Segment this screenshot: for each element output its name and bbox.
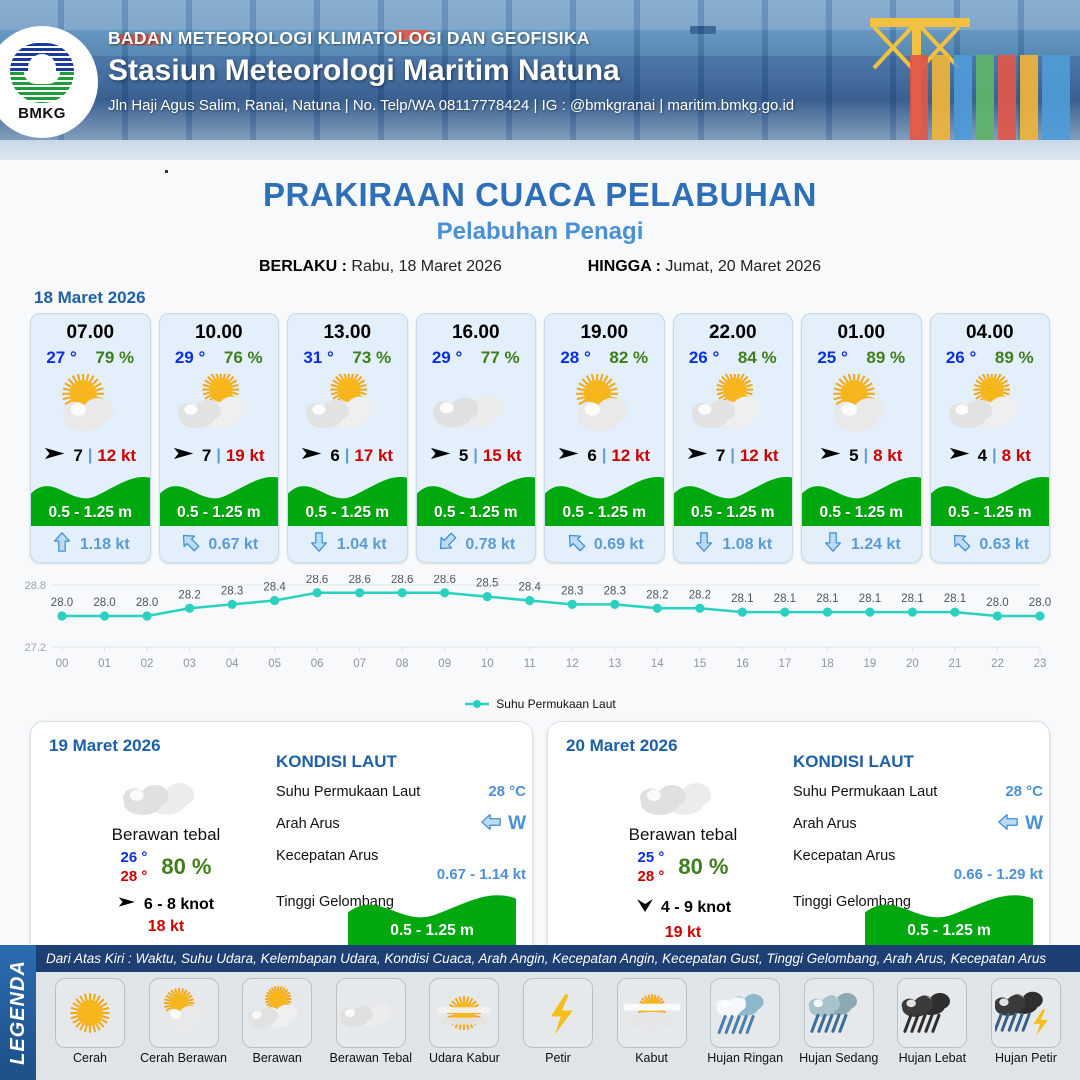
card-time: 07.00 <box>31 322 150 344</box>
wind-direction-arrow-icon <box>301 446 325 466</box>
legend-item: Petir <box>512 978 604 1065</box>
card-temp-humidity: 26 ° 89 % <box>931 348 1050 368</box>
wind-separator: | <box>730 447 734 465</box>
svg-text:14: 14 <box>651 658 664 670</box>
svg-text:21: 21 <box>949 658 962 670</box>
chart-legend-label: Suhu Permukaan Laut <box>496 697 615 711</box>
card-wave-graphic: 0.5 - 1.25 m <box>31 470 150 526</box>
card-wind-direction: 4 <box>978 446 987 466</box>
legend-section: LEGENDA Dari Atas Kiri : Waktu, Suhu Uda… <box>0 945 1080 1080</box>
card-wind-speed: 19 kt <box>226 446 265 466</box>
day-wave-graphic: 0.5 - 1.25 m <box>348 888 516 946</box>
card-wave-height: 0.5 - 1.25 m <box>674 504 793 522</box>
svg-text:00: 00 <box>56 658 69 670</box>
card-temp-humidity: 26 ° 84 % <box>674 348 793 368</box>
day-temp-max: 28 ° <box>637 868 664 885</box>
legend-item-label: Udara Kabur <box>418 1051 510 1065</box>
card-current-speed: 1.04 kt <box>337 536 387 554</box>
legend-item: Cerah <box>44 978 136 1065</box>
card-wind-row: 7 | 12 kt <box>31 446 150 466</box>
hourly-card: 19.00 28 ° 82 % 6 | 12 kt 0.5 - 1.25 m 0… <box>544 313 665 563</box>
hourly-card: 07.00 27 ° 79 % 7 | 12 kt 0.5 - 1.25 m 1… <box>30 313 151 563</box>
wind-direction-arrow-icon <box>430 446 454 466</box>
wind-separator: | <box>216 447 220 465</box>
day-wind-row: 6 - 8 knot <box>71 895 261 914</box>
day-temp-humidity: 26 ° 28 ° 80 % <box>71 849 261 885</box>
card-temperature: 28 ° <box>560 348 590 368</box>
svg-text:28.3: 28.3 <box>221 585 243 597</box>
card-wave-height: 0.5 - 1.25 m <box>31 504 150 522</box>
card-current-row: 1.08 kt <box>674 531 793 558</box>
svg-text:28.3: 28.3 <box>604 585 626 597</box>
card-current-row: 0.69 kt <box>545 531 664 558</box>
legend-item-label: Kabut <box>606 1051 698 1065</box>
wind-direction-arrow-icon <box>118 895 138 914</box>
hourly-card: 04.00 26 ° 89 % 4 | 8 kt 0.5 - 1.25 m <box>930 313 1051 563</box>
card-current-row: 0.63 kt <box>931 531 1050 558</box>
hingga-group: HINGGA : Jumat, 20 Maret 2026 <box>588 258 821 276</box>
card-humidity: 89 % <box>995 348 1034 368</box>
sst-value: 28 °C <box>1005 783 1043 800</box>
legend-item-label: Hujan Petir <box>980 1051 1072 1065</box>
card-weather-icon <box>545 372 664 436</box>
contact-info: Jln Haji Agus Salim, Ranai, Natuna | No.… <box>108 97 794 114</box>
wind-direction-arrow-icon <box>635 895 655 920</box>
svg-text:28.2: 28.2 <box>646 589 668 601</box>
card-temp-humidity: 29 ° 76 % <box>160 348 279 368</box>
daily-forecast-panel: 19 Maret 2026 Berawan tebal 26 ° 28 ° 80… <box>30 721 533 963</box>
day-temp-min: 25 ° <box>637 849 664 866</box>
card-wind-direction: 6 <box>330 446 339 466</box>
legend-item: Cerah Berawan <box>138 978 230 1065</box>
wind-separator: | <box>345 447 349 465</box>
card-wind-row: 7 | 19 kt <box>160 446 279 466</box>
card-temp-humidity: 28 ° 82 % <box>545 348 664 368</box>
current-direction-arrow-icon <box>436 531 458 558</box>
current-speed-row: Kecepatan Arus <box>793 848 1043 864</box>
svg-text:19: 19 <box>864 658 877 670</box>
legend-side-banner: LEGENDA <box>0 945 36 1080</box>
wind-direction-arrow-icon <box>820 446 844 466</box>
day-wave-graphic: 0.5 - 1.25 m <box>865 888 1033 946</box>
current-direction-value: W <box>508 813 526 835</box>
card-wind-speed: 17 kt <box>354 446 393 466</box>
card-wave-graphic: 0.5 - 1.25 m <box>160 470 279 526</box>
legend-icon-heavy-rain <box>897 978 967 1048</box>
sst-row: Suhu Permukaan Laut 28 °C <box>276 783 526 800</box>
berlaku-group: BERLAKU : Rabu, 18 Maret 2026 <box>259 258 502 276</box>
card-temperature: 29 ° <box>432 348 462 368</box>
legend-item: Udara Kabur <box>418 978 510 1065</box>
card-current-speed: 0.67 kt <box>208 536 258 554</box>
hourly-card: 13.00 31 ° 73 % 6 | 17 kt 0.5 - 1.25 m <box>287 313 408 563</box>
card-weather-icon <box>160 372 279 436</box>
legend-icon-moderate-rain <box>804 978 874 1048</box>
svg-text:28.6: 28.6 <box>391 575 413 586</box>
card-wind-speed: 8 kt <box>1002 446 1031 466</box>
card-temperature: 26 ° <box>689 348 719 368</box>
current-direction-value: W <box>1025 813 1043 835</box>
svg-text:23: 23 <box>1034 658 1047 670</box>
card-wind-row: 5 | 8 kt <box>802 446 921 466</box>
sst-chart-svg: 28.827.200010203040506070809101112131415… <box>0 575 1080 695</box>
current-speed-row: Kecepatan Arus <box>276 848 526 864</box>
stray-dot <box>165 170 168 173</box>
legend-icon-thunderstorm <box>991 978 1061 1048</box>
hingga-label: HINGGA : <box>588 258 661 275</box>
bmkg-emblem-icon <box>10 43 74 103</box>
legend-icon-partly-cloudy <box>149 978 219 1048</box>
wind-direction-arrow-icon <box>173 446 197 466</box>
day-humidity: 80 % <box>678 854 728 880</box>
card-current-row: 0.67 kt <box>160 531 279 558</box>
svg-text:09: 09 <box>438 658 451 670</box>
svg-text:28.5: 28.5 <box>476 578 498 590</box>
card-temperature: 31 ° <box>303 348 333 368</box>
hourly-forecast-cards: 07.00 27 ° 79 % 7 | 12 kt 0.5 - 1.25 m 1… <box>0 313 1080 563</box>
daily-forecast-panel: 20 Maret 2026 Berawan tebal 25 ° 28 ° 80… <box>547 721 1050 963</box>
wind-direction-arrow-icon <box>558 446 582 466</box>
current-direction-arrow-icon <box>179 531 201 558</box>
legend-item: Berawan Tebal <box>325 978 417 1065</box>
current-direction-arrow-icon <box>480 811 502 837</box>
svg-text:05: 05 <box>268 658 281 670</box>
sst-label: Suhu Permukaan Laut <box>276 784 420 800</box>
containers-icon <box>910 55 1070 140</box>
day-weather-icon <box>71 764 261 821</box>
svg-text:28.0: 28.0 <box>136 597 158 609</box>
card-current-speed: 1.08 kt <box>722 536 772 554</box>
day-summary: Berawan tebal 25 ° 28 ° 80 % 4 - 9 knot … <box>588 764 778 942</box>
wind-separator: | <box>864 447 868 465</box>
page-header: BMKG BADAN METEOROLOGI KLIMATOLOGI DAN G… <box>0 0 1080 160</box>
day-wave-value: 0.5 - 1.25 m <box>865 922 1033 940</box>
title-block: PRAKIRAAN CUACA PELABUHAN Pelabuhan Pena… <box>0 176 1080 246</box>
svg-text:28.4: 28.4 <box>263 582 286 594</box>
current-direction-label: Arah Arus <box>793 816 857 832</box>
legend-side-title: LEGENDA <box>7 960 30 1065</box>
legend-item: Hujan Petir <box>980 978 1072 1065</box>
svg-text:16: 16 <box>736 658 749 670</box>
svg-text:28.1: 28.1 <box>944 593 966 605</box>
current-speed-value: 0.67 - 1.14 kt <box>276 866 526 883</box>
card-temp-humidity: 27 ° 79 % <box>31 348 150 368</box>
day-wind-range: 4 - 9 knot <box>661 899 731 917</box>
header-text-block: BADAN METEOROLOGI KLIMATOLOGI DAN GEOFIS… <box>108 28 794 114</box>
card-wind-row: 5 | 15 kt <box>417 446 536 466</box>
card-temperature: 27 ° <box>46 348 76 368</box>
card-humidity: 79 % <box>95 348 134 368</box>
svg-text:28.1: 28.1 <box>816 593 838 605</box>
legend-icon-light-rain <box>710 978 780 1048</box>
day-gust: 19 kt <box>588 924 778 942</box>
card-wind-speed: 8 kt <box>873 446 902 466</box>
svg-text:18: 18 <box>821 658 834 670</box>
card-wind-direction: 7 <box>73 446 82 466</box>
svg-text:28.0: 28.0 <box>986 597 1008 609</box>
day-weather-icon <box>588 764 778 821</box>
card-time: 16.00 <box>417 322 536 344</box>
svg-text:27.2: 27.2 <box>25 642 46 654</box>
legend-icon-sunny <box>55 978 125 1048</box>
card-time: 04.00 <box>931 322 1050 344</box>
svg-text:28.0: 28.0 <box>93 597 115 609</box>
svg-text:04: 04 <box>226 658 239 670</box>
svg-text:28.8: 28.8 <box>25 580 46 592</box>
wind-separator: | <box>473 447 477 465</box>
card-current-speed: 0.78 kt <box>465 536 515 554</box>
hourly-card: 22.00 26 ° 84 % 7 | 12 kt 0.5 - 1.25 m <box>673 313 794 563</box>
card-wave-graphic: 0.5 - 1.25 m <box>417 470 536 526</box>
card-temperature: 26 ° <box>946 348 976 368</box>
legend-item: Berawan <box>231 978 323 1065</box>
legend-line-marker-icon <box>464 699 490 709</box>
legend-icon-lightning <box>523 978 593 1048</box>
legend-item-label: Berawan Tebal <box>325 1051 417 1065</box>
card-wave-graphic: 0.5 - 1.25 m <box>802 470 921 526</box>
sst-chart: 28.827.200010203040506070809101112131415… <box>0 575 1080 695</box>
berlaku-value: Rabu, 18 Maret 2026 <box>351 258 501 275</box>
card-wave-graphic: 0.5 - 1.25 m <box>674 470 793 526</box>
card-weather-icon <box>288 372 407 436</box>
card-current-speed: 1.18 kt <box>80 536 130 554</box>
current-direction-label: Arah Arus <box>276 816 340 832</box>
legend-item-label: Berawan <box>231 1051 323 1065</box>
sea-conditions: KONDISI LAUT Suhu Permukaan Laut 28 °C A… <box>793 752 1043 910</box>
legend-item-label: Petir <box>512 1051 604 1065</box>
svg-text:28.2: 28.2 <box>689 589 711 601</box>
wind-separator: | <box>992 447 996 465</box>
legend-icon-mostly-cloudy <box>242 978 312 1048</box>
current-direction-arrow-icon <box>950 531 972 558</box>
page-title: PRAKIRAAN CUACA PELABUHAN <box>0 176 1080 214</box>
legend-icon-fog <box>617 978 687 1048</box>
svg-text:28.1: 28.1 <box>901 593 923 605</box>
current-speed-value: 0.66 - 1.29 kt <box>793 866 1043 883</box>
card-current-row: 1.24 kt <box>802 531 921 558</box>
svg-text:01: 01 <box>98 658 111 670</box>
sea-conditions: KONDISI LAUT Suhu Permukaan Laut 28 °C A… <box>276 752 526 910</box>
svg-text:03: 03 <box>183 658 196 670</box>
card-current-row: 1.04 kt <box>288 531 407 558</box>
card-wave-height: 0.5 - 1.25 m <box>288 504 407 522</box>
card-temp-humidity: 25 ° 89 % <box>802 348 921 368</box>
svg-text:10: 10 <box>481 658 494 670</box>
logo-label: BMKG <box>18 105 66 122</box>
sst-label: Suhu Permukaan Laut <box>793 784 937 800</box>
day-temp-max: 28 ° <box>120 868 147 885</box>
hourly-date-label: 18 Maret 2026 <box>34 288 1080 308</box>
legend-item-label: Hujan Sedang <box>793 1051 885 1065</box>
card-temp-humidity: 31 ° 73 % <box>288 348 407 368</box>
current-direction-arrow-icon <box>308 531 330 558</box>
card-weather-icon <box>802 372 921 436</box>
card-weather-icon <box>931 372 1050 436</box>
card-temperature: 25 ° <box>817 348 847 368</box>
svg-text:28.6: 28.6 <box>306 575 328 586</box>
card-wave-height: 0.5 - 1.25 m <box>802 504 921 522</box>
card-humidity: 84 % <box>738 348 777 368</box>
card-wind-direction: 7 <box>716 446 725 466</box>
current-direction-arrow-icon <box>997 811 1019 837</box>
card-current-row: 1.18 kt <box>31 531 150 558</box>
svg-text:28.0: 28.0 <box>1029 597 1051 609</box>
card-wind-speed: 15 kt <box>483 446 522 466</box>
legend-items: Cerah Cerah Berawan Berawan Beraw <box>36 972 1080 1065</box>
card-current-speed: 0.69 kt <box>594 536 644 554</box>
wind-separator: | <box>602 447 606 465</box>
card-humidity: 89 % <box>866 348 905 368</box>
legend-item: Kabut <box>606 978 698 1065</box>
wind-separator: | <box>88 447 92 465</box>
wind-direction-arrow-icon <box>949 446 973 466</box>
card-weather-icon <box>31 372 150 436</box>
card-humidity: 73 % <box>352 348 391 368</box>
legend-item-label: Hujan Lebat <box>886 1051 978 1065</box>
svg-text:28.3: 28.3 <box>561 585 583 597</box>
svg-text:28.2: 28.2 <box>178 589 200 601</box>
card-wind-row: 7 | 12 kt <box>674 446 793 466</box>
current-speed-label: Kecepatan Arus <box>793 848 895 864</box>
svg-text:11: 11 <box>524 658 536 670</box>
card-time: 19.00 <box>545 322 664 344</box>
hourly-card: 10.00 29 ° 76 % 7 | 19 kt 0.5 - 1.25 m <box>159 313 280 563</box>
svg-text:13: 13 <box>608 658 621 670</box>
card-wind-row: 4 | 8 kt <box>931 446 1050 466</box>
day-gust: 18 kt <box>71 918 261 936</box>
card-humidity: 77 % <box>481 348 520 368</box>
card-weather-icon <box>417 372 536 436</box>
day-condition: Berawan tebal <box>588 825 778 845</box>
hingga-value: Jumat, 20 Maret 2026 <box>665 258 821 275</box>
wind-direction-arrow-icon <box>687 446 711 466</box>
card-wind-speed: 12 kt <box>97 446 136 466</box>
sea-conditions-title: KONDISI LAUT <box>793 752 1043 772</box>
station-name: Stasiun Meteorologi Maritim Natuna <box>108 54 794 88</box>
current-direction-arrow-icon <box>51 531 73 558</box>
svg-text:20: 20 <box>906 658 919 670</box>
day-wind-row: 4 - 9 knot <box>588 895 778 920</box>
card-temperature: 29 ° <box>175 348 205 368</box>
day-wind-range: 6 - 8 knot <box>144 896 214 914</box>
current-direction-arrow-icon <box>822 531 844 558</box>
card-wind-speed: 12 kt <box>740 446 779 466</box>
card-time: 22.00 <box>674 322 793 344</box>
card-wind-direction: 5 <box>459 446 468 466</box>
legend-icon-cloudy <box>336 978 406 1048</box>
svg-text:28.1: 28.1 <box>731 593 753 605</box>
current-direction-arrow-icon <box>565 531 587 558</box>
svg-text:22: 22 <box>991 658 1004 670</box>
card-wind-direction: 6 <box>587 446 596 466</box>
svg-text:07: 07 <box>353 658 366 670</box>
card-wind-direction: 5 <box>849 446 858 466</box>
current-direction-row: Arah Arus W <box>793 811 1043 837</box>
svg-text:28.6: 28.6 <box>348 575 370 586</box>
berlaku-label: BERLAKU : <box>259 258 347 275</box>
header-floor <box>0 140 1080 160</box>
day-summary: Berawan tebal 26 ° 28 ° 80 % 6 - 8 knot … <box>71 764 261 936</box>
card-wind-row: 6 | 17 kt <box>288 446 407 466</box>
daily-forecast-panels: 19 Maret 2026 Berawan tebal 26 ° 28 ° 80… <box>0 721 1080 963</box>
sea-conditions-title: KONDISI LAUT <box>276 752 526 772</box>
card-wind-speed: 12 kt <box>611 446 650 466</box>
svg-text:06: 06 <box>311 658 324 670</box>
legend-item: Hujan Lebat <box>886 978 978 1065</box>
card-wind-direction: 7 <box>202 446 211 466</box>
wind-direction-arrow-icon <box>44 446 68 466</box>
legend-body: Dari Atas Kiri : Waktu, Suhu Udara, Kele… <box>36 945 1080 1080</box>
legend-item: Hujan Sedang <box>793 978 885 1065</box>
current-direction-row: Arah Arus W <box>276 811 526 837</box>
day-temp-humidity: 25 ° 28 ° 80 % <box>588 849 778 885</box>
chart-legend: Suhu Permukaan Laut <box>0 697 1080 711</box>
svg-text:08: 08 <box>396 658 409 670</box>
validity-row: BERLAKU : Rabu, 18 Maret 2026 HINGGA : J… <box>0 258 1080 276</box>
svg-text:28.1: 28.1 <box>859 593 881 605</box>
svg-text:28.1: 28.1 <box>774 593 796 605</box>
legend-note: Dari Atas Kiri : Waktu, Suhu Udara, Kele… <box>36 945 1080 972</box>
legend-icon-haze <box>429 978 499 1048</box>
current-direction-arrow-icon <box>693 531 715 558</box>
svg-text:12: 12 <box>566 658 579 670</box>
sst-value: 28 °C <box>488 783 526 800</box>
card-time: 01.00 <box>802 322 921 344</box>
card-humidity: 76 % <box>224 348 263 368</box>
sst-row: Suhu Permukaan Laut 28 °C <box>793 783 1043 800</box>
card-wave-height: 0.5 - 1.25 m <box>160 504 279 522</box>
svg-text:28.0: 28.0 <box>51 597 73 609</box>
hourly-card: 01.00 25 ° 89 % 5 | 8 kt 0.5 - 1.25 m 1.… <box>801 313 922 563</box>
card-humidity: 82 % <box>609 348 648 368</box>
card-wave-height: 0.5 - 1.25 m <box>931 504 1050 522</box>
svg-text:17: 17 <box>778 658 791 670</box>
card-temp-humidity: 29 ° 77 % <box>417 348 536 368</box>
svg-text:15: 15 <box>693 658 706 670</box>
card-wave-graphic: 0.5 - 1.25 m <box>288 470 407 526</box>
day-humidity: 80 % <box>161 854 211 880</box>
organization-name: BADAN METEOROLOGI KLIMATOLOGI DAN GEOFIS… <box>108 28 794 49</box>
card-current-row: 0.78 kt <box>417 531 536 558</box>
card-wave-height: 0.5 - 1.25 m <box>545 504 664 522</box>
card-time: 10.00 <box>160 322 279 344</box>
svg-text:28.4: 28.4 <box>519 582 542 594</box>
legend-item-label: Cerah Berawan <box>138 1051 230 1065</box>
day-temp-min: 26 ° <box>120 849 147 866</box>
card-time: 13.00 <box>288 322 407 344</box>
hourly-card: 16.00 29 ° 77 % 5 | 15 kt 0.5 - 1.25 m <box>416 313 537 563</box>
svg-text:02: 02 <box>141 658 154 670</box>
current-speed-label: Kecepatan Arus <box>276 848 378 864</box>
card-current-speed: 1.24 kt <box>851 536 901 554</box>
svg-text:28.6: 28.6 <box>434 575 456 586</box>
card-wave-graphic: 0.5 - 1.25 m <box>931 470 1050 526</box>
card-weather-icon <box>674 372 793 436</box>
day-wave-value: 0.5 - 1.25 m <box>348 922 516 940</box>
legend-item: Hujan Ringan <box>699 978 791 1065</box>
legend-item-label: Hujan Ringan <box>699 1051 791 1065</box>
day-condition: Berawan tebal <box>71 825 261 845</box>
legend-item-label: Cerah <box>44 1051 136 1065</box>
card-wave-height: 0.5 - 1.25 m <box>417 504 536 522</box>
card-current-speed: 0.63 kt <box>979 536 1029 554</box>
card-wave-graphic: 0.5 - 1.25 m <box>545 470 664 526</box>
card-wind-row: 6 | 12 kt <box>545 446 664 466</box>
port-name: Pelabuhan Penagi <box>0 218 1080 246</box>
